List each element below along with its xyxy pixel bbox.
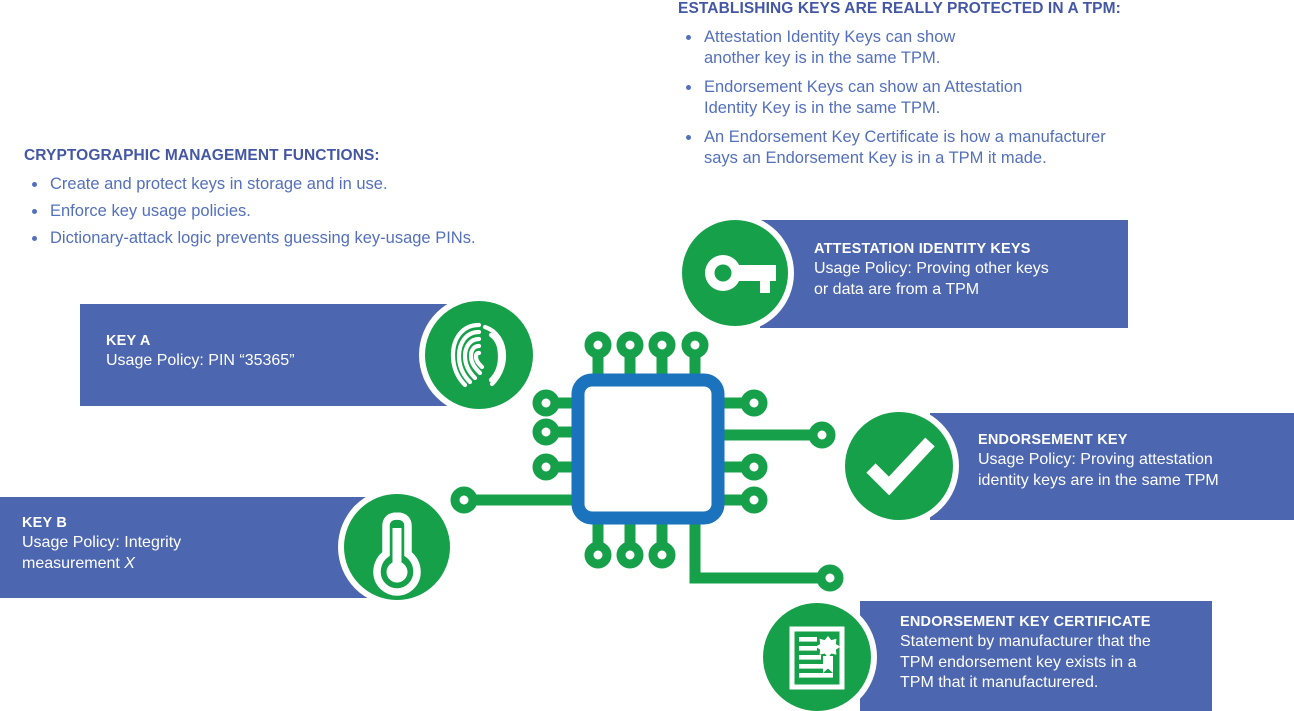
establishing-keys-text-block: ESTABLISHING KEYS ARE REALLY PROTECTED I… <box>678 0 1278 177</box>
banner-key-b-text: KEY B Usage Policy: Integrity measuremen… <box>22 514 181 574</box>
key-icon <box>682 220 788 326</box>
thermometer-icon <box>344 494 450 600</box>
bullet-dot-icon <box>32 209 37 214</box>
banner-endorsement-key-title: ENDORSEMENT KEY <box>978 431 1219 449</box>
cryptographic-management-text-block: CRYPTOGRAPHIC MANAGEMENT FUNCTIONS: Crea… <box>24 147 584 255</box>
banner-key-b-subtitle-line2: measurement <box>22 555 124 572</box>
certificate-icon <box>763 603 871 711</box>
bullet-dot-icon <box>32 182 37 187</box>
bullet-dot-icon <box>686 85 691 90</box>
bullet-dot-icon <box>686 35 691 40</box>
list-item: Dictionary-attack logic prevents guessin… <box>24 228 584 249</box>
banner-key-b-subtitle: Usage Policy: Integrity measurement X <box>22 533 181 574</box>
banner-key-a-subtitle: Usage Policy: PIN “35365” <box>106 351 295 372</box>
list-item: An Endorsement Key Certificate is how a … <box>678 127 1278 169</box>
banner-attestation-identity-keys-title: ATTESTATION IDENTITY KEYS <box>814 240 1049 258</box>
bullet-text: Enforce key usage policies. <box>50 202 251 220</box>
banner-key-a-title: KEY A <box>106 332 295 350</box>
banner-attestation-identity-keys-subtitle: Usage Policy: Proving other keysor data … <box>814 259 1049 300</box>
banner-endorsement-key-certificate-subtitle: Statement by manufacturer that theTPM en… <box>900 632 1151 694</box>
banner-endorsement-key: ENDORSEMENT KEY Usage Policy: Proving at… <box>930 413 1294 520</box>
bullet-dot-icon <box>686 135 691 140</box>
banner-key-a-text: KEY A Usage Policy: PIN “35365” <box>106 332 295 372</box>
list-item: Create and protect keys in storage and i… <box>24 174 584 195</box>
banner-endorsement-key-certificate: ENDORSEMENT KEY CERTIFICATE Statement by… <box>860 601 1212 711</box>
bullet-text: Attestation Identity Keys can showanothe… <box>704 28 955 67</box>
cryptographic-management-bullet-list: Create and protect keys in storage and i… <box>24 174 584 249</box>
bullet-text: Dictionary-attack logic prevents guessin… <box>50 229 476 247</box>
banner-endorsement-key-certificate-text: ENDORSEMENT KEY CERTIFICATE Statement by… <box>900 613 1151 694</box>
banner-key-b-measurement-variable: X <box>124 555 135 572</box>
list-item: Attestation Identity Keys can showanothe… <box>678 27 1278 69</box>
banner-key-b-subtitle-line1: Usage Policy: Integrity <box>22 534 181 551</box>
banner-endorsement-key-subtitle: Usage Policy: Proving attestationidentit… <box>978 450 1219 491</box>
banner-attestation-identity-keys: ATTESTATION IDENTITY KEYS Usage Policy: … <box>760 220 1128 328</box>
banner-key-b-title: KEY B <box>22 514 181 532</box>
bullet-text: An Endorsement Key Certificate is how a … <box>704 128 1106 167</box>
banner-endorsement-key-certificate-title: ENDORSEMENT KEY CERTIFICATE <box>900 613 1151 631</box>
bullet-text: Endorsement Keys can show an Attestation… <box>704 78 1022 117</box>
fingerprint-icon <box>425 301 533 409</box>
bullet-dot-icon <box>32 236 37 241</box>
diagram-canvas: ESTABLISHING KEYS ARE REALLY PROTECTED I… <box>0 0 1294 711</box>
banner-attestation-identity-keys-text: ATTESTATION IDENTITY KEYS Usage Policy: … <box>814 240 1049 300</box>
banner-endorsement-key-text: ENDORSEMENT KEY Usage Policy: Proving at… <box>978 431 1219 491</box>
cryptographic-management-heading: CRYPTOGRAPHIC MANAGEMENT FUNCTIONS: <box>24 147 584 165</box>
bullet-text: Create and protect keys in storage and i… <box>50 175 388 193</box>
list-item: Endorsement Keys can show an Attestation… <box>678 77 1278 119</box>
establishing-keys-heading: ESTABLISHING KEYS ARE REALLY PROTECTED I… <box>678 0 1278 18</box>
list-item: Enforce key usage policies. <box>24 201 584 222</box>
checkmark-icon <box>845 412 953 520</box>
establishing-keys-bullet-list: Attestation Identity Keys can showanothe… <box>678 27 1278 169</box>
